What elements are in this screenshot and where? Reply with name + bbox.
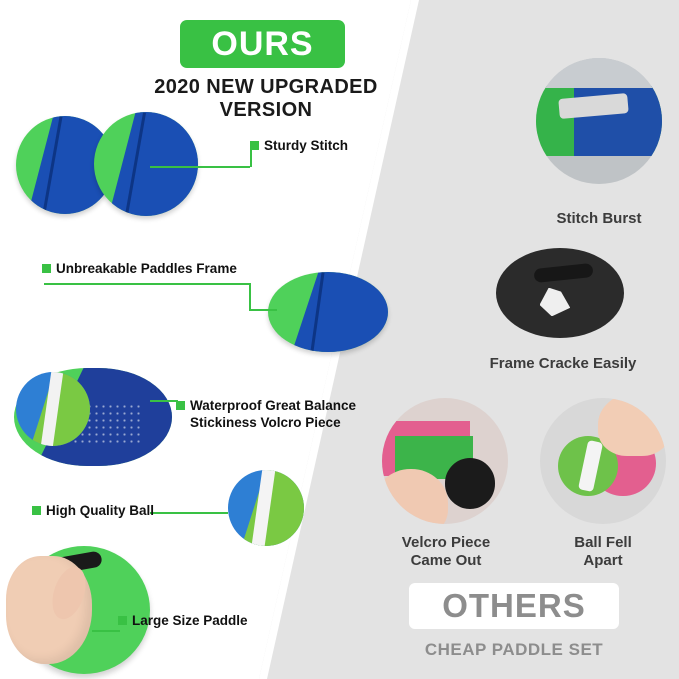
comparison-infographic: OURS 2020 NEW UPGRADED VERSION Sturdy St… [0,0,679,679]
photo-velcro-came-out [382,398,508,524]
callout-bullet [176,401,185,410]
caption-ball-fell-apart: Ball Fell Apart [538,534,668,570]
callout-waterproof-velcro: Waterproof Great Balance Stickiness Volc… [176,398,366,432]
others-banner-label: OTHERS [442,587,586,625]
leader-line-frame [44,283,249,285]
ours-banner: OURS [180,20,345,68]
photo-stitch-burst [536,58,662,184]
photo-frame-crack [496,248,624,338]
callout-label: High Quality Ball [46,503,154,520]
callout-unbreakable-frame: Unbreakable Paddles Frame [42,261,237,278]
paddle-blue-face [94,112,198,216]
callout-bullet [42,264,51,273]
photo-background-blur [536,58,662,88]
callout-label: Sturdy Stitch [264,138,348,155]
callout-label: Large Size Paddle [132,613,248,630]
photo-ball-fell-apart [540,398,666,524]
leader-line-ball [150,512,228,514]
callout-label: Unbreakable Paddles Frame [56,261,237,278]
photo-strap-dark [534,263,594,283]
paddle-blue-face [268,272,388,352]
caption-frame-crack: Frame Cracke Easily [460,355,666,373]
leader-line-large-paddle [92,630,120,632]
photo-velcro-disc [445,458,495,508]
ball-high-quality [228,470,304,546]
leader-line-sturdy-stitch [150,166,250,168]
paddle-top-right [94,112,198,216]
leader-line-frame-vert [249,283,251,309]
callout-label: Waterproof Great Balance Stickiness Volc… [190,398,366,432]
leader-line-velcro [150,400,178,402]
caption-velcro-came-out: Velcro Piece Came Out [376,534,516,570]
paddle-frame-sample [268,272,388,352]
others-subtitle: CHEAP PADDLE SET [389,640,639,660]
leader-line-frame-2 [249,309,277,311]
callout-bullet [118,616,127,625]
callout-sturdy-stitch: Sturdy Stitch [250,138,348,155]
callout-bullet [32,506,41,515]
callout-large-paddle: Large Size Paddle [118,613,248,630]
callout-bullet [250,141,259,150]
ball-on-velcro [16,372,90,446]
ours-banner-label: OURS [211,25,313,64]
caption-stitch-burst: Stitch Burst [519,210,679,228]
others-banner: OTHERS [409,583,619,629]
callout-high-quality-ball: High Quality Ball [32,503,154,520]
photo-hand [598,398,666,456]
photo-crack [540,288,571,317]
